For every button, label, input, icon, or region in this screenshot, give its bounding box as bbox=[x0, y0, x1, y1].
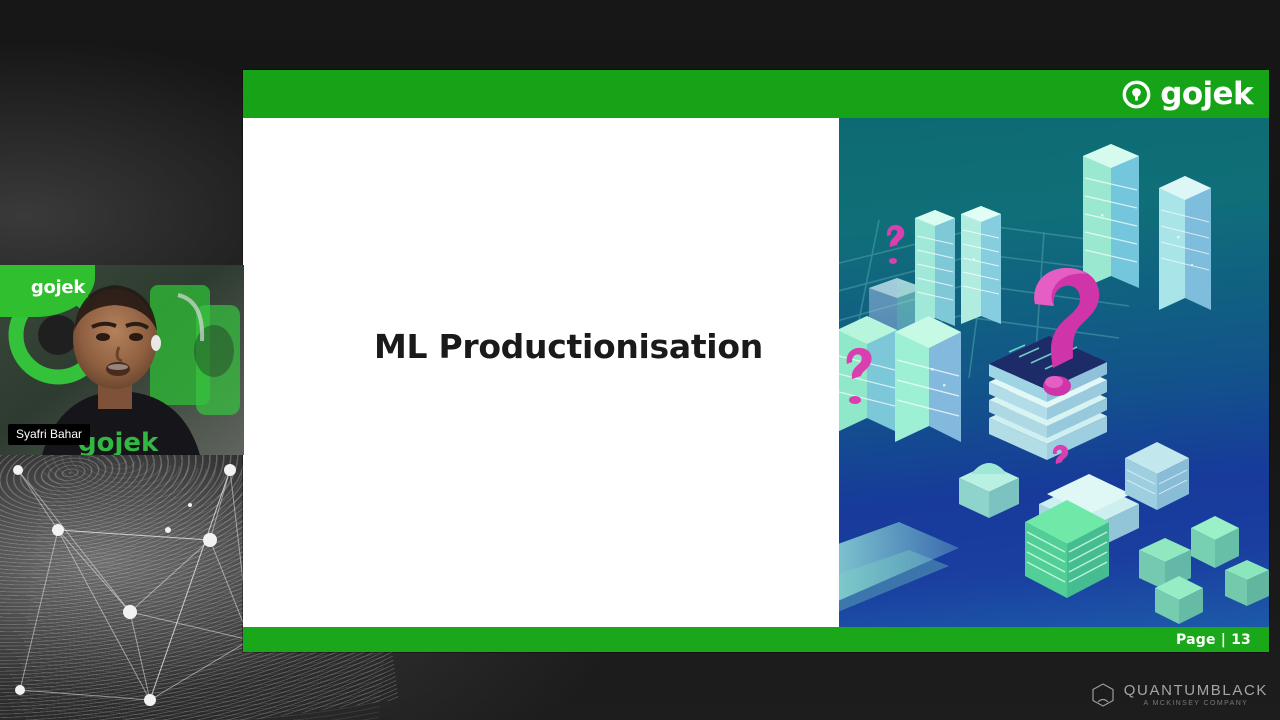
slide-footer-bar: Page | 13 bbox=[243, 627, 1269, 652]
quantumblack-watermark: QUANTUMBLACK A MCKINSEY COMPANY bbox=[1090, 682, 1268, 708]
watermark-text: QUANTUMBLACK A MCKINSEY COMPANY bbox=[1124, 683, 1268, 707]
watermark-brand: QUANTUMBLACK bbox=[1124, 683, 1268, 698]
participant-video-tile[interactable]: gojek gojek Syafri Bahar bbox=[0, 265, 244, 455]
gojek-logo-text: gojek bbox=[1160, 79, 1253, 110]
participant-name-label: Syafri Bahar bbox=[8, 424, 90, 445]
presentation-slide[interactable]: gojek ML Productionisation bbox=[243, 70, 1269, 652]
webcam-banner-text: gojek bbox=[31, 277, 85, 298]
svg-text:gojek: gojek bbox=[78, 428, 159, 455]
isometric-city-illustration bbox=[839, 118, 1269, 627]
slide-illustration-panel bbox=[839, 118, 1269, 627]
screen-share-stage: gojek ML Productionisation bbox=[0, 0, 1280, 720]
slide-body: ML Productionisation bbox=[243, 118, 1269, 627]
slide-title: ML Productionisation bbox=[374, 327, 763, 366]
gojek-logo: gojek bbox=[1122, 79, 1253, 110]
page-number-label: Page | 13 bbox=[1176, 632, 1251, 648]
watermark-tagline: A MCKINSEY COMPANY bbox=[1124, 700, 1268, 707]
gojek-circle-dot-icon bbox=[1122, 80, 1151, 109]
slide-content-panel: ML Productionisation bbox=[243, 118, 839, 627]
hexagon-icon bbox=[1090, 682, 1116, 708]
slide-header-bar: gojek bbox=[243, 70, 1269, 118]
